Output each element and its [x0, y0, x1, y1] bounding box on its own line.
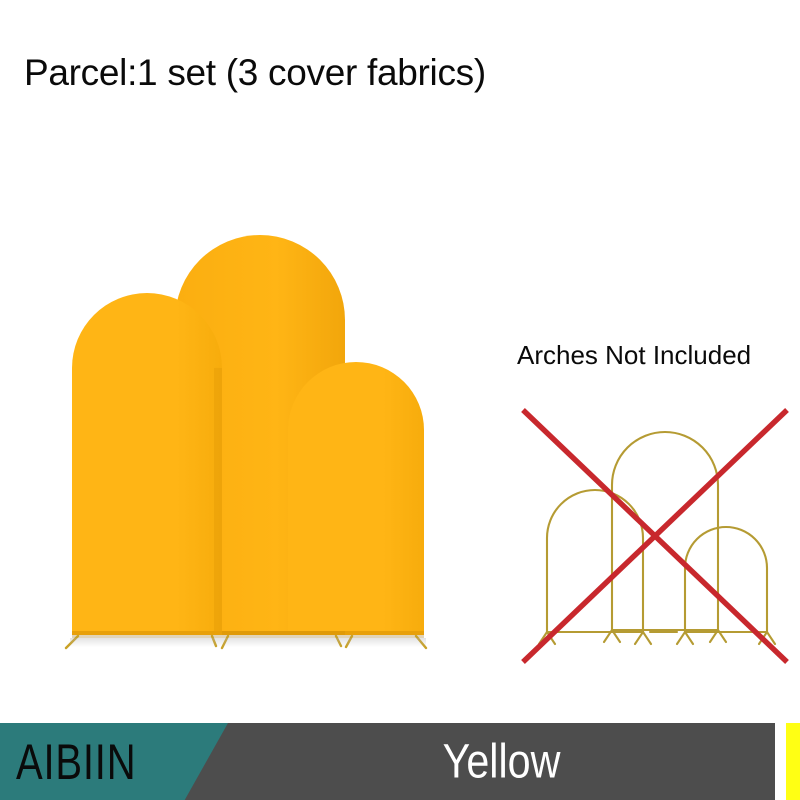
- banner-yellow-accent: [786, 723, 800, 800]
- arch-frame-center: [604, 432, 726, 642]
- color-name-wrapper: Yellow: [228, 734, 775, 789]
- product-image: Parcel:1 set (3 cover fabrics): [0, 0, 800, 800]
- arches-not-included-callout: Arches Not Included: [505, 330, 800, 670]
- cover-base-trim: [72, 631, 424, 638]
- arch-frame-right: [677, 527, 775, 644]
- medium-left-cover: [72, 293, 222, 635]
- red-cross-out-mark: [523, 410, 787, 662]
- arches-not-included-label: Arches Not Included: [517, 340, 751, 371]
- arch-covers-illustration: [0, 0, 480, 700]
- ground-shadow: [70, 638, 426, 647]
- brand-logo-text: AIBIIN: [16, 733, 136, 791]
- arch-frames-illustration: [505, 370, 800, 670]
- bottom-banner: AIBIIN Yellow: [0, 723, 800, 800]
- short-right-cover: [288, 362, 424, 635]
- arch-cover-group: [0, 0, 480, 700]
- color-name-text: Yellow: [443, 734, 561, 789]
